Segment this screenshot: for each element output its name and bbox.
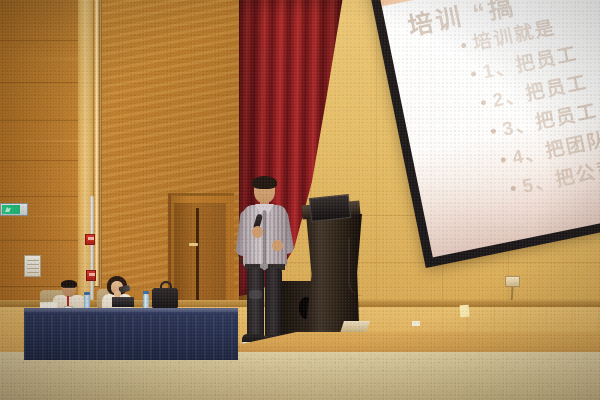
exit-sign-panel	[2, 205, 20, 214]
fire-alarm-icon	[85, 234, 95, 245]
presenter-leg-right	[265, 268, 282, 337]
floor-tape-marker	[412, 321, 420, 326]
handbag	[152, 288, 178, 309]
confidence-monitor	[309, 194, 351, 222]
bullet-dot-icon	[471, 71, 477, 77]
exit-sign	[0, 203, 28, 216]
presenter-hair	[252, 176, 277, 189]
photograph-conference-presentation: 培训 “搞 “拨 培训就是 1、把员工 2、把员工 3、把员工 4、把团队	[0, 0, 600, 400]
bullet-dot-icon	[461, 42, 467, 48]
bullet-dot-icon	[481, 100, 487, 106]
floor-tape-marker	[460, 305, 470, 318]
wall-notice-sign	[24, 255, 41, 277]
presenter-shirt-placket	[263, 210, 266, 264]
presenter-leg-left	[247, 268, 264, 337]
door-gap	[196, 208, 199, 303]
tabletop-device	[112, 297, 134, 307]
presenter-hand-left	[252, 226, 263, 238]
cable	[348, 238, 362, 296]
wall-corner-post	[99, 0, 102, 288]
eyeglasses-icon	[63, 287, 75, 290]
presenter-trouser-detail	[249, 290, 262, 299]
wall-conduit-pipe	[90, 196, 94, 300]
slide-title-fragment: “拨	[574, 0, 600, 5]
presenter	[236, 178, 292, 354]
panel-table-skirt-folds	[24, 315, 238, 360]
presenter-hand-right	[272, 240, 283, 251]
door-leaf[interactable]	[174, 203, 226, 303]
water-bottle	[143, 294, 149, 309]
bullet-dot-icon	[490, 128, 496, 134]
bullet-dot-icon	[500, 157, 506, 163]
door-handle[interactable]	[189, 243, 198, 246]
fire-alarm-icon	[86, 270, 96, 281]
wall-socket-plate	[505, 276, 520, 287]
bullet-dot-icon	[510, 185, 516, 191]
